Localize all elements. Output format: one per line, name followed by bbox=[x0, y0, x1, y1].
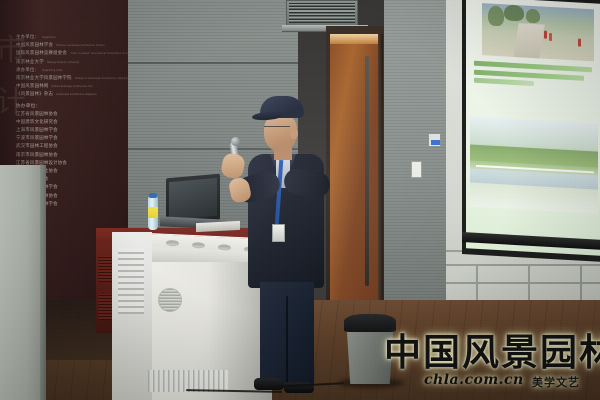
slide-road bbox=[513, 23, 544, 58]
banner-large-char-2: 计 bbox=[0, 88, 26, 118]
wall-control-switch-icon[interactable] bbox=[428, 133, 441, 147]
door-handle[interactable] bbox=[365, 56, 369, 286]
banner-line: 宁波市风景园林学会 bbox=[16, 135, 124, 141]
banner-line: 主办单位：Organizers: bbox=[16, 34, 124, 40]
slide-photo-bottom bbox=[470, 116, 598, 213]
watermark-chinese-text: 中国风景园林网 bbox=[384, 332, 600, 372]
screenshot-root: 市 计 主办单位：Organizers: 中国风景园林学会Chinese Lan… bbox=[0, 0, 600, 400]
watermark-url: chla.com.cn bbox=[424, 372, 524, 388]
slide-photo-top bbox=[482, 3, 594, 61]
door-edge bbox=[378, 34, 383, 334]
banner-line: 承办单位：Organizing Units: bbox=[16, 67, 124, 73]
presenter-shoe-left bbox=[254, 378, 284, 390]
site-watermark: 中国风景园林网 chla.com.cn 美学文艺 bbox=[380, 332, 596, 394]
left-column-edge bbox=[40, 165, 46, 400]
laptop-screen bbox=[169, 178, 217, 220]
wooden-door[interactable] bbox=[330, 34, 380, 334]
slide-text-lines bbox=[474, 61, 594, 90]
banner-line: 中国建筑文化研究会 bbox=[16, 119, 124, 125]
watermark-subtitle: 美学文艺 bbox=[532, 374, 580, 390]
light-switch-icon[interactable] bbox=[411, 161, 422, 178]
banner-line: 南京林业大学风景园林学院College of Landscape Archite… bbox=[16, 75, 124, 81]
banner-line: 江苏省风景园林协会 bbox=[16, 111, 124, 117]
banner-large-char-1: 市 bbox=[0, 36, 26, 66]
banner-line: 中国风景园林网China Landscape Architecture Net bbox=[16, 83, 124, 89]
banner-line: 《风景园林》杂志Landscape Architecture Magazine bbox=[16, 91, 124, 97]
air-conditioning-vent bbox=[286, 0, 358, 26]
banner-line: 国际风景园林竞赛组委会"Yuan Ye Award" International… bbox=[16, 50, 124, 56]
projection-screen bbox=[466, 0, 600, 256]
bottle-cap bbox=[149, 193, 157, 198]
banner-line: 中国风景园林学会Chinese Landscape Architecture S… bbox=[16, 42, 124, 48]
door-top-light bbox=[330, 34, 380, 44]
banner-line: 南京林业大学Nanjing Forestry University bbox=[16, 59, 124, 65]
banner-line: 上海市风景园林学会 bbox=[16, 127, 124, 133]
banner-line: 武汉市园林工程协会 bbox=[16, 143, 124, 149]
presenter bbox=[236, 96, 328, 400]
lectern-button[interactable] bbox=[192, 242, 205, 249]
presenter-ear bbox=[290, 128, 298, 139]
banner-line: 南京市风景园林协会 bbox=[16, 152, 124, 158]
presenter-leg-separation bbox=[286, 296, 288, 382]
bottle-label bbox=[148, 207, 158, 218]
presenter-badge bbox=[272, 224, 285, 242]
banner-line: 协办单位： bbox=[16, 103, 124, 109]
lectern-speaker-grille-icon bbox=[158, 288, 182, 312]
presenter-glasses bbox=[264, 126, 290, 131]
lectern-button[interactable] bbox=[166, 240, 179, 247]
lectern-side-vent bbox=[118, 248, 144, 314]
left-wall-column bbox=[0, 165, 44, 400]
microphone-head bbox=[231, 137, 240, 146]
